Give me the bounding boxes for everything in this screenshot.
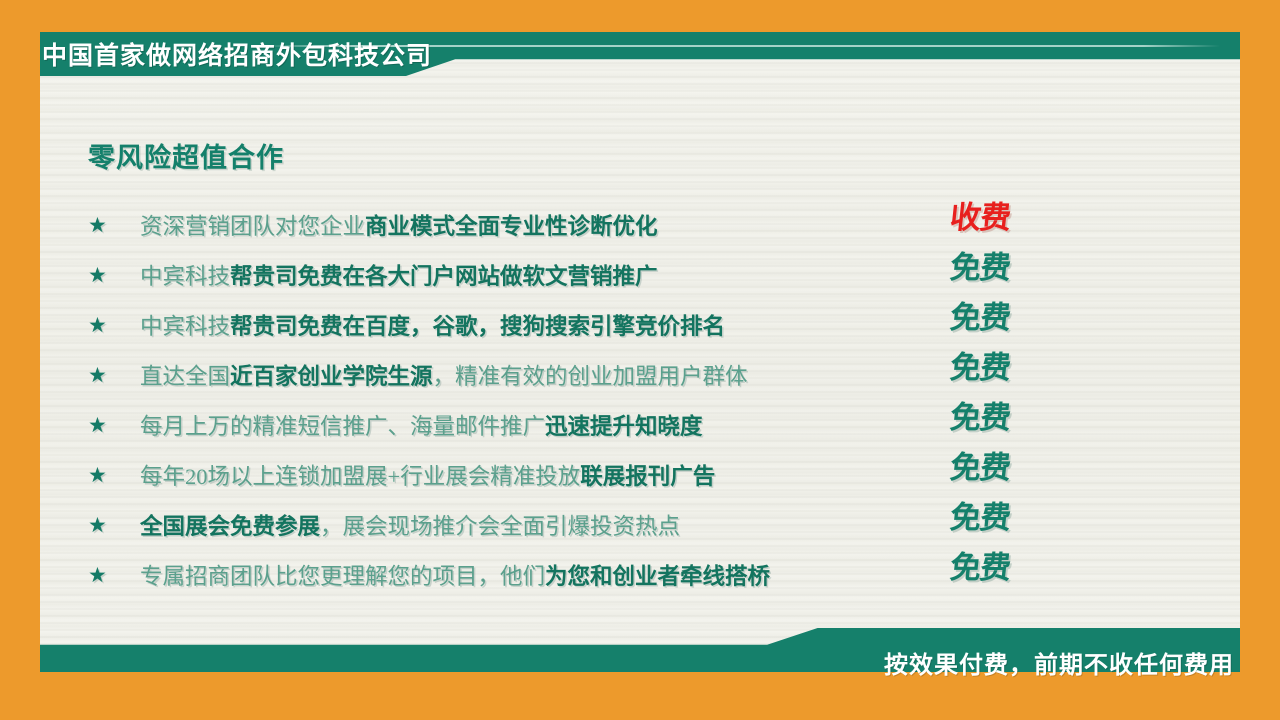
price-badge-free: 免费 [947,443,1072,493]
star-bullet-icon: ★ [88,515,140,536]
list-item-text: 专属招商团队比您更理解您的项目，他们为您和创业者牵线搭桥 [140,559,770,591]
list-item-emphasis: 全国展会免费参展 [140,514,320,539]
list-item-text: 资深营销团队对您企业商业模式全面专业性诊断优化 [140,209,658,241]
price-badge-free: 免费 [947,293,1072,343]
list-item-tail: ，展会现场推介会全面引爆投资热点 [320,514,680,539]
list-item-emphasis: 为您和创业者牵线搭桥 [545,564,770,589]
price-badge-free: 免费 [947,243,1072,293]
list-item-lead: 资深营销团队对您企业 [140,214,365,239]
list-item-lead: 中宾科技 [140,314,230,339]
benefit-list: ★资深营销团队对您企业商业模式全面专业性诊断优化★中宾科技帮贵司免费在各大门户网… [88,200,1088,600]
list-item-lead: 专属招商团队比您更理解您的项目，他们 [140,564,545,589]
list-item-text: 全国展会免费参展，展会现场推介会全面引爆投资热点 [140,509,680,541]
list-item-text: 直达全国近百家创业学院生源，精准有效的创业加盟用户群体 [140,359,748,391]
list-item: ★资深营销团队对您企业商业模式全面专业性诊断优化 [88,200,1088,250]
list-item-text: 每月上万的精准短信推广、海量邮件推广迅速提升知晓度 [140,409,703,441]
section-title: 零风险超值合作 [88,136,284,175]
list-item-text: 每年20场以上连锁加盟展+行业展会精准投放联展报刊广告 [140,459,715,491]
price-column: 收费免费免费免费免费免费免费免费 [950,193,1070,593]
list-item: ★全国展会免费参展，展会现场推介会全面引爆投资热点 [88,500,1088,550]
list-item-text: 中宾科技帮贵司免费在百度，谷歌，搜狗搜索引擎竞价排名 [140,309,725,341]
header-title: 中国首家做网络招商外包科技公司 [42,36,432,72]
list-item-lead: 每年20场以上连锁加盟展+行业展会精准投放 [140,464,580,489]
footer-tagline: 按效果付费，前期不收任何费用 [884,645,1234,680]
list-item-lead: 每月上万的精准短信推广、海量邮件推广 [140,414,545,439]
price-badge-free: 免费 [947,493,1072,543]
list-item-lead: 直达全国 [140,364,230,389]
list-item: ★专属招商团队比您更理解您的项目，他们为您和创业者牵线搭桥 [88,550,1088,600]
list-item-emphasis: 商业模式全面专业性诊断优化 [365,214,658,239]
list-item-emphasis: 联展报刊广告 [580,464,715,489]
list-item: ★中宾科技帮贵司免费在百度，谷歌，搜狗搜索引擎竞价排名 [88,300,1088,350]
star-bullet-icon: ★ [88,315,140,336]
star-bullet-icon: ★ [88,465,140,486]
star-bullet-icon: ★ [88,415,140,436]
list-item-text: 中宾科技帮贵司免费在各大门户网站做软文营销推广 [140,259,658,291]
star-bullet-icon: ★ [88,215,140,236]
price-badge-free: 免费 [947,343,1072,393]
list-item-emphasis: 近百家创业学院生源 [230,364,433,389]
price-badge-free: 免费 [947,393,1072,443]
list-item-lead: 中宾科技 [140,264,230,289]
list-item: ★每月上万的精准短信推广、海量邮件推广迅速提升知晓度 [88,400,1088,450]
list-item: ★直达全国近百家创业学院生源，精准有效的创业加盟用户群体 [88,350,1088,400]
list-item: ★每年20场以上连锁加盟展+行业展会精准投放联展报刊广告 [88,450,1088,500]
list-item-emphasis: 迅速提升知晓度 [545,414,703,439]
list-item: ★中宾科技帮贵司免费在各大门户网站做软文营销推广 [88,250,1088,300]
star-bullet-icon: ★ [88,365,140,386]
list-item-tail: ，精准有效的创业加盟用户群体 [433,364,748,389]
list-item-emphasis: 帮贵司免费在各大门户网站做软文营销推广 [230,264,658,289]
price-badge-charged: 收费 [947,193,1072,243]
star-bullet-icon: ★ [88,565,140,586]
slide-root: 中国首家做网络招商外包科技公司 零风险超值合作 ★资深营销团队对您企业商业模式全… [0,0,1280,720]
star-bullet-icon: ★ [88,265,140,286]
list-item-emphasis: 帮贵司免费在百度，谷歌，搜狗搜索引擎竞价排名 [230,314,725,339]
price-badge-free: 免费 [947,543,1072,593]
